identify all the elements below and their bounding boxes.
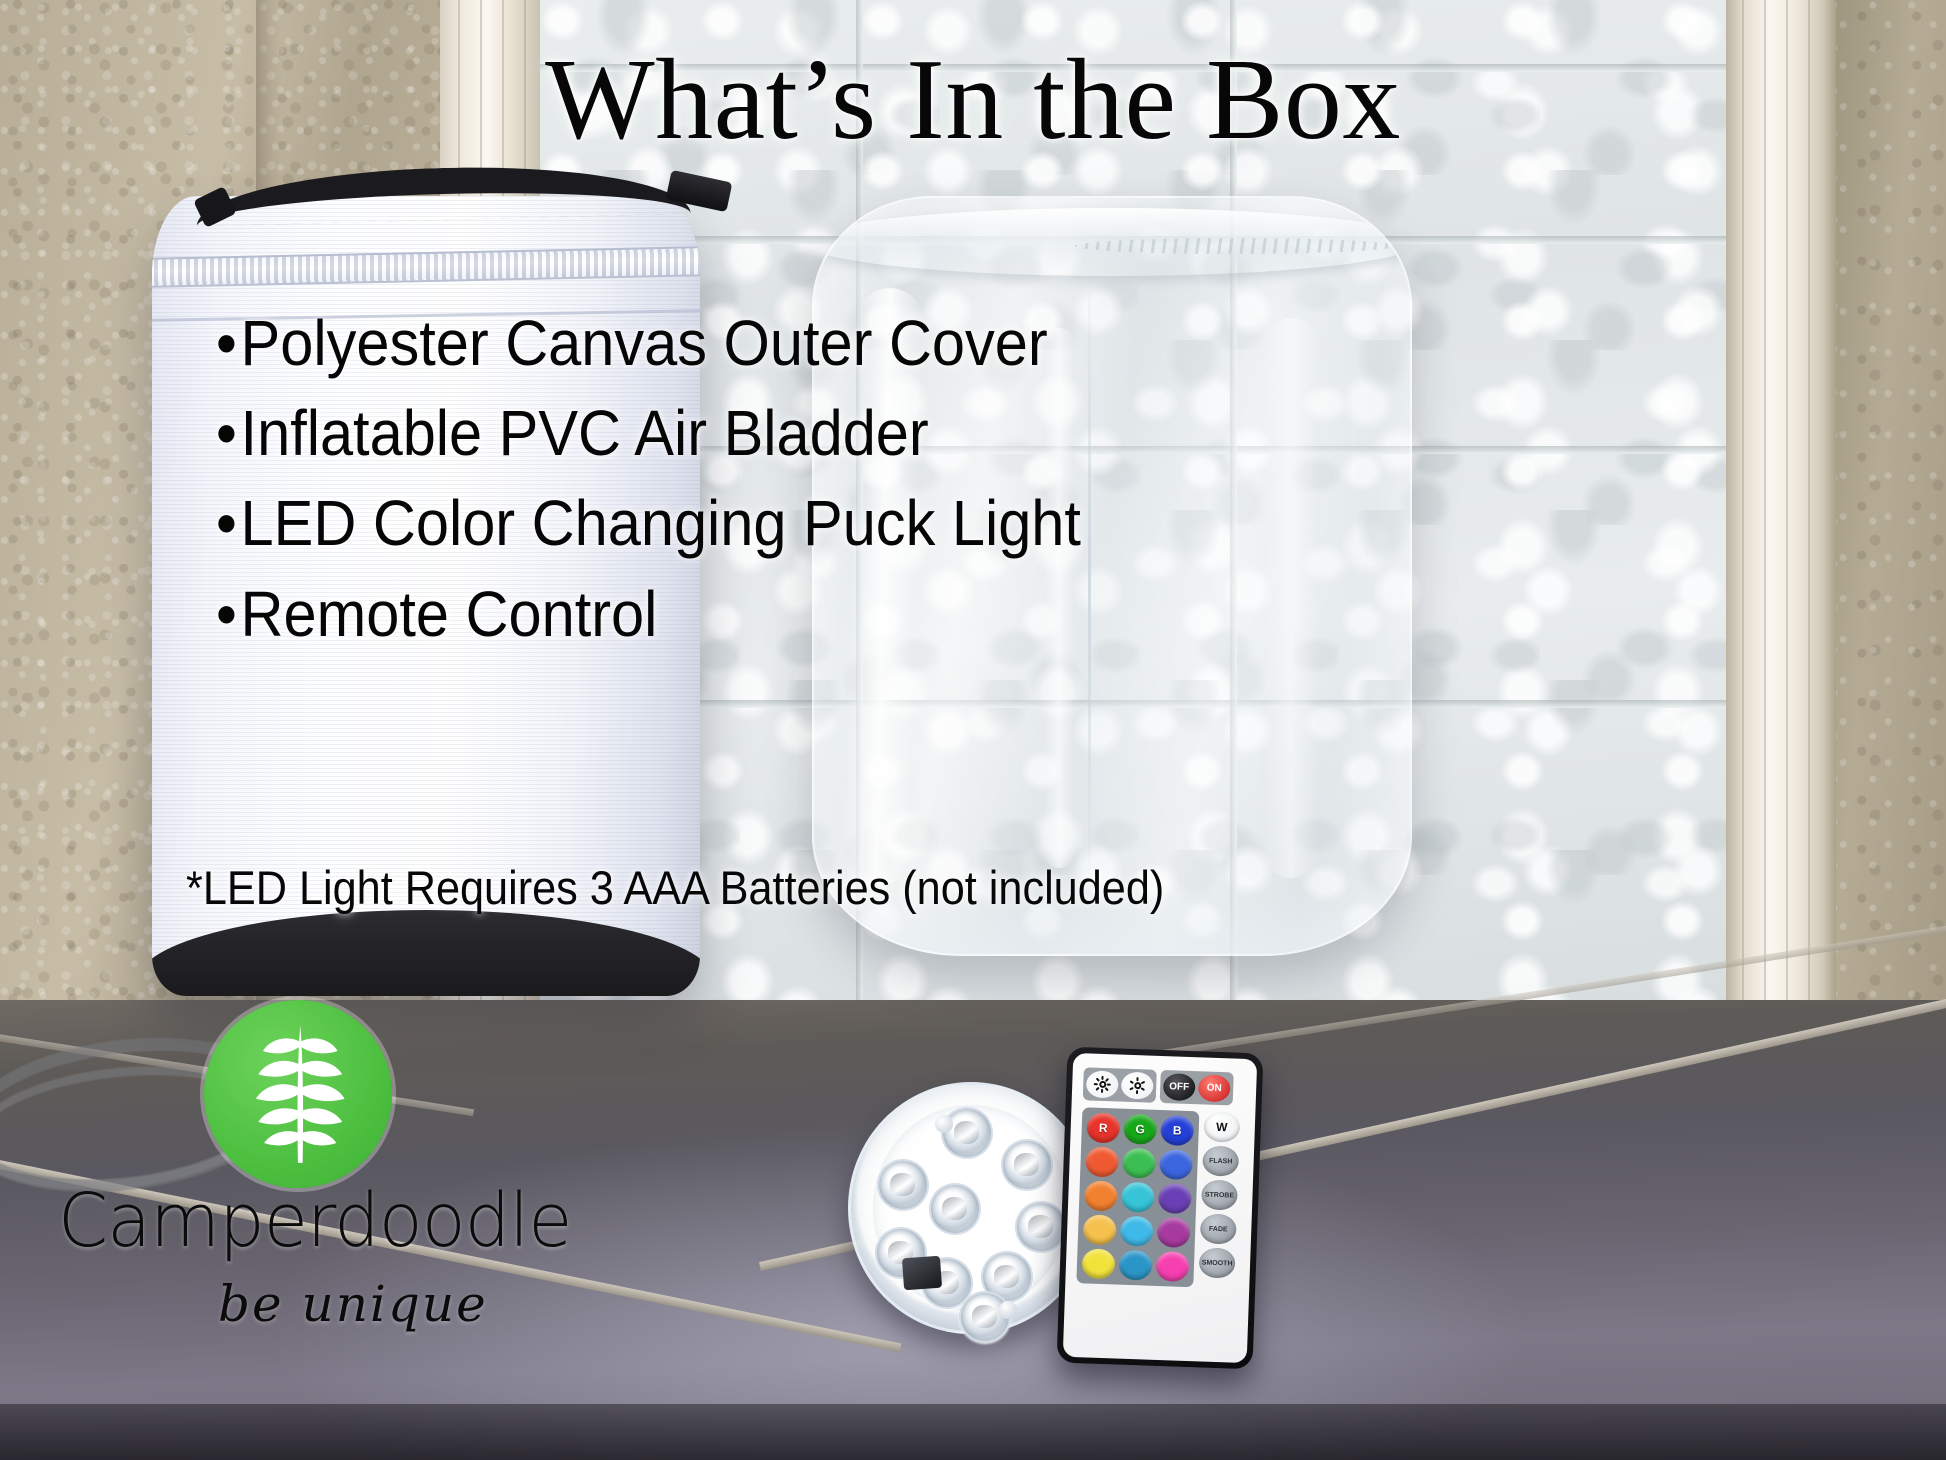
- brightness-group: [1083, 1067, 1157, 1103]
- leaf-icon: [242, 1017, 359, 1171]
- puck-face: [873, 1105, 1070, 1312]
- led-bulb: [929, 1183, 981, 1235]
- brand-logo-badge: [204, 1000, 392, 1188]
- strobe-button[interactable]: STROBE: [1201, 1179, 1238, 1210]
- power-off-button[interactable]: OFF: [1163, 1073, 1196, 1101]
- color-button[interactable]: [1158, 1183, 1192, 1214]
- list-item: Polyester Canvas Outer Cover: [216, 298, 1276, 388]
- brightness-down-button[interactable]: [1121, 1072, 1154, 1100]
- puck-nub: [935, 1115, 953, 1133]
- feature-list: Polyester Canvas Outer Cover Inflatable …: [176, 298, 1356, 659]
- color-button[interactable]: [1122, 1148, 1156, 1179]
- brightness-up-button[interactable]: [1086, 1070, 1119, 1098]
- color-button[interactable]: [1155, 1251, 1189, 1282]
- smooth-button[interactable]: SMOOTH: [1199, 1247, 1236, 1278]
- ir-sensor: [902, 1256, 942, 1291]
- led-bulb: [1015, 1201, 1067, 1253]
- brightness-up-icon: [1095, 1077, 1111, 1093]
- led-bulb: [877, 1159, 929, 1211]
- brightness-down-icon: [1129, 1078, 1145, 1094]
- color-button-grid: R G B: [1076, 1107, 1199, 1287]
- color-button[interactable]: G: [1123, 1114, 1157, 1145]
- led-bulb: [1001, 1139, 1053, 1191]
- brand-tagline: be unique: [218, 1275, 488, 1333]
- list-item: Remote Control: [216, 569, 1276, 659]
- page-title: What’s In the Box: [0, 42, 1946, 158]
- battery-footnote: *LED Light Requires 3 AAA Batteries (not…: [186, 860, 1164, 915]
- color-button[interactable]: [1081, 1248, 1115, 1279]
- remote-control[interactable]: OFF ON R G B: [1057, 1047, 1264, 1370]
- effect-button-column: W FLASH STROBE FADE SMOOTH: [1198, 1111, 1240, 1288]
- remote-main-grid: R G B W FL: [1076, 1107, 1244, 1289]
- product-infographic: OFF ON R G B: [0, 0, 1946, 1460]
- remote-top-row: OFF ON: [1083, 1067, 1246, 1106]
- flash-button[interactable]: FLASH: [1202, 1145, 1239, 1176]
- led-puck-light: [848, 1082, 1094, 1334]
- color-button[interactable]: [1120, 1216, 1154, 1247]
- color-button[interactable]: [1084, 1180, 1118, 1211]
- color-button[interactable]: [1157, 1217, 1191, 1248]
- color-button[interactable]: R: [1086, 1112, 1120, 1143]
- fade-button[interactable]: FADE: [1200, 1213, 1237, 1244]
- power-group: OFF ON: [1160, 1070, 1234, 1106]
- white-button[interactable]: W: [1203, 1111, 1240, 1142]
- color-button[interactable]: B: [1160, 1115, 1194, 1146]
- color-button[interactable]: [1083, 1214, 1117, 1245]
- color-button[interactable]: [1118, 1250, 1152, 1281]
- puck-nub: [999, 1301, 1017, 1319]
- list-item: Inflatable PVC Air Bladder: [216, 388, 1276, 478]
- led-bulb: [941, 1107, 993, 1159]
- color-button[interactable]: [1121, 1182, 1155, 1213]
- color-button[interactable]: [1159, 1149, 1193, 1180]
- list-item: LED Color Changing Puck Light: [216, 478, 1276, 568]
- power-on-button[interactable]: ON: [1198, 1074, 1231, 1102]
- brand-name: Camperdoodle: [58, 1178, 571, 1264]
- color-button[interactable]: [1085, 1146, 1119, 1177]
